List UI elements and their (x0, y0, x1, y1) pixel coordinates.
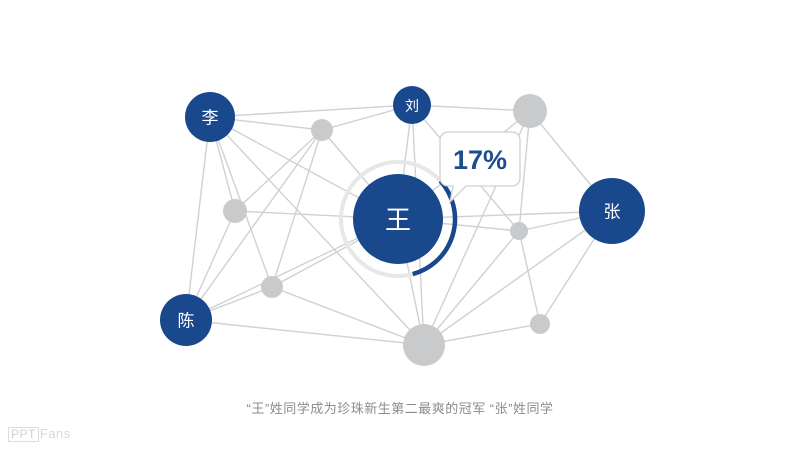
watermark-boxed: PPT (8, 427, 39, 442)
node-label: 王 (385, 205, 411, 235)
node-chen[interactable]: 陈 (160, 294, 212, 346)
network-diagram: 李刘王张陈 17% (0, 0, 800, 450)
node-g7[interactable] (403, 324, 445, 366)
edge (519, 231, 540, 324)
node-circle[interactable] (311, 119, 333, 141)
node-circle[interactable] (223, 199, 247, 223)
node-g1[interactable] (311, 119, 333, 141)
caption-text: “王”姓同学成为珍珠新生第二最爽的冠军 “张”姓同学 (0, 398, 800, 417)
percent-value: 17% (453, 145, 507, 175)
node-liu[interactable]: 刘 (393, 86, 431, 124)
nodes-layer: 李刘王张陈 (160, 86, 645, 366)
node-label: 张 (604, 203, 621, 222)
edge (186, 320, 424, 345)
percent-callout: 17% (440, 132, 520, 202)
edge (186, 130, 322, 320)
node-g6[interactable] (530, 314, 550, 334)
watermark: PPTFans (8, 426, 71, 442)
node-circle[interactable] (403, 324, 445, 366)
node-label: 陈 (178, 312, 195, 331)
edge (210, 105, 412, 117)
node-g3[interactable] (223, 199, 247, 223)
node-zhang[interactable]: 张 (579, 178, 645, 244)
node-circle[interactable] (530, 314, 550, 334)
node-circle[interactable] (513, 94, 547, 128)
watermark-plain: Fans (40, 426, 71, 441)
node-g4[interactable] (261, 276, 283, 298)
edge (272, 287, 424, 345)
node-circle[interactable] (261, 276, 283, 298)
node-circle[interactable] (510, 222, 528, 240)
node-label: 刘 (405, 98, 419, 114)
node-label: 李 (202, 109, 219, 128)
node-li[interactable]: 李 (185, 92, 235, 142)
node-wang[interactable]: 王 (353, 174, 443, 264)
node-g2[interactable] (513, 94, 547, 128)
edge (186, 117, 210, 320)
node-g5[interactable] (510, 222, 528, 240)
